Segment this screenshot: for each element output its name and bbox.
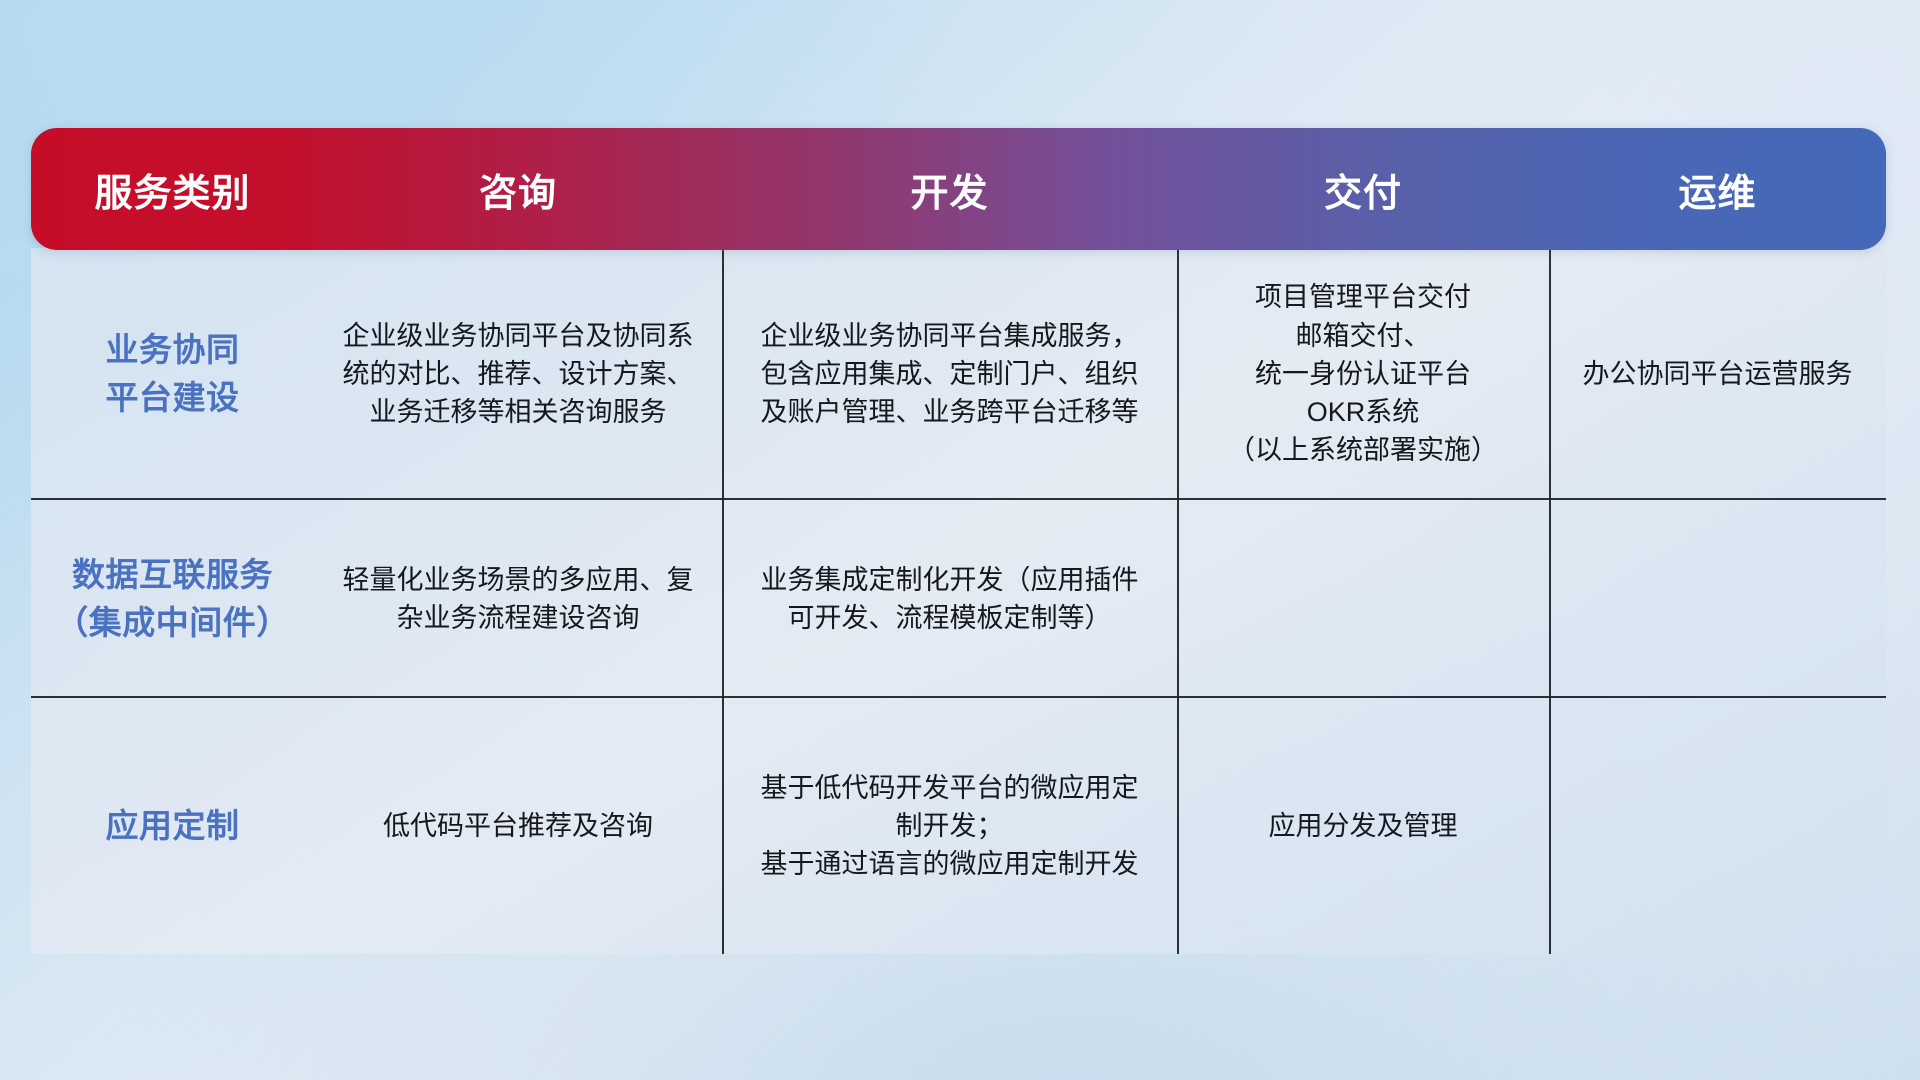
table-body: 业务协同 平台建设 企业级业务协同平台及协同系 统的对比、推荐、设计方案、 业务…: [31, 248, 1886, 954]
row-category-label: 业务协同 平台建设: [31, 248, 314, 500]
cell-development: 业务集成定制化开发（应用插件 可开发、流程模板定制等）: [722, 500, 1177, 698]
table-header-row: 服务类别 咨询 开发 交付 运维: [31, 128, 1886, 250]
cell-operations: [1549, 698, 1886, 954]
table-row: 业务协同 平台建设 企业级业务协同平台及协同系 统的对比、推荐、设计方案、 业务…: [31, 248, 1886, 500]
cell-development: 基于低代码开发平台的微应用定 制开发； 基于通过语言的微应用定制开发: [722, 698, 1177, 954]
cell-delivery: 项目管理平台交付 邮箱交付、 统一身份认证平台 OKR系统 （以上系统部署实施）: [1177, 248, 1549, 500]
cell-development: 企业级业务协同平台集成服务， 包含应用集成、定制门户、组织 及账户管理、业务跨平…: [722, 248, 1177, 500]
row-category-label: 数据互联服务 （集成中间件）: [31, 500, 314, 698]
service-matrix-table: 服务类别 咨询 开发 交付 运维 业务协同 平台建设 企业级业务协同平台及协同系…: [31, 128, 1886, 954]
table-header-cell-category: 服务类别: [31, 162, 314, 217]
cell-delivery: [1177, 500, 1549, 698]
cell-operations: [1549, 500, 1886, 698]
cell-consulting: 企业级业务协同平台及协同系 统的对比、推荐、设计方案、 业务迁移等相关咨询服务: [314, 248, 722, 500]
table-row: 数据互联服务 （集成中间件） 轻量化业务场景的多应用、复 杂业务流程建设咨询 业…: [31, 500, 1886, 698]
cell-operations: 办公协同平台运营服务: [1549, 248, 1886, 500]
cell-delivery: 应用分发及管理: [1177, 698, 1549, 954]
cell-consulting: 轻量化业务场景的多应用、复 杂业务流程建设咨询: [314, 500, 722, 698]
row-category-label: 应用定制: [31, 698, 314, 954]
table-header-cell-delivery: 交付: [1177, 162, 1549, 217]
cell-consulting: 低代码平台推荐及咨询: [314, 698, 722, 954]
slide-canvas: 服务类别 咨询 开发 交付 运维 业务协同 平台建设 企业级业务协同平台及协同系…: [0, 0, 1920, 1080]
table-row: 应用定制 低代码平台推荐及咨询 基于低代码开发平台的微应用定 制开发； 基于通过…: [31, 698, 1886, 954]
table-header-cell-development: 开发: [722, 162, 1177, 217]
table-header-cell-consulting: 咨询: [314, 162, 722, 217]
table-header-cell-operations: 运维: [1549, 162, 1886, 217]
